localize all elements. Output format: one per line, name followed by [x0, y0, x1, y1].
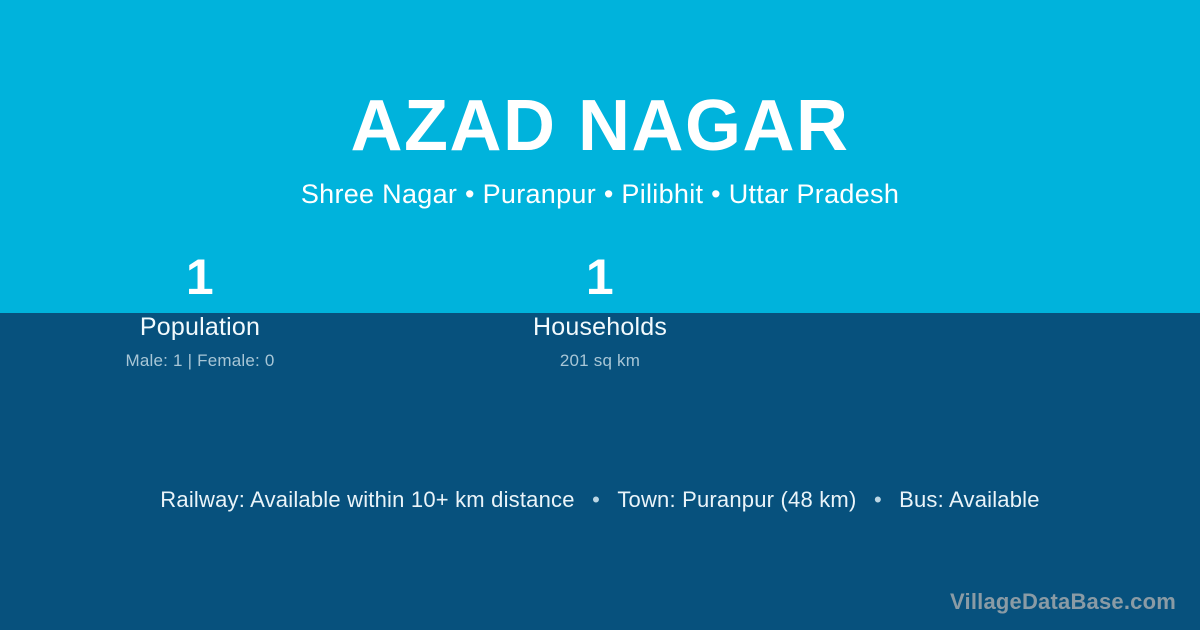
facility-separator-icon: •	[579, 487, 613, 512]
breadcrumb-location: Shree Nagar • Puranpur • Pilibhit • Utta…	[0, 177, 1200, 211]
stat-label-households: Households	[533, 312, 667, 342]
facility-summary-row: Railway: Available within 10+ km distanc…	[0, 485, 1200, 515]
stat-sub-population-gender: Male: 1 | Female: 0	[126, 350, 275, 371]
facility-separator-icon: •	[861, 487, 895, 512]
page-title: AZAD NAGAR	[0, 80, 1200, 172]
facility-town: Town: Puranpur (48 km)	[617, 487, 856, 512]
stat-cell-population: 1 Population Male: 1 | Female: 0	[0, 248, 400, 383]
village-info-card: AZAD NAGAR Shree Nagar • Puranpur • Pili…	[0, 0, 1200, 630]
stat-sub-households-area: 201 sq km	[560, 350, 640, 371]
stat-cell-empty	[800, 248, 1200, 383]
stat-value-households: 1	[586, 248, 614, 306]
stat-cell-households: 1 Households 201 sq km	[400, 248, 800, 383]
stat-label-population: Population	[140, 312, 260, 342]
site-watermark: VillageDataBase.com	[950, 588, 1176, 616]
stat-value-population: 1	[186, 248, 214, 306]
header-block: AZAD NAGAR Shree Nagar • Puranpur • Pili…	[0, 80, 1200, 211]
stats-row: 1 Population Male: 1 | Female: 0 1 House…	[0, 248, 1200, 383]
facility-bus: Bus: Available	[899, 487, 1040, 512]
facility-railway: Railway: Available within 10+ km distanc…	[160, 487, 574, 512]
